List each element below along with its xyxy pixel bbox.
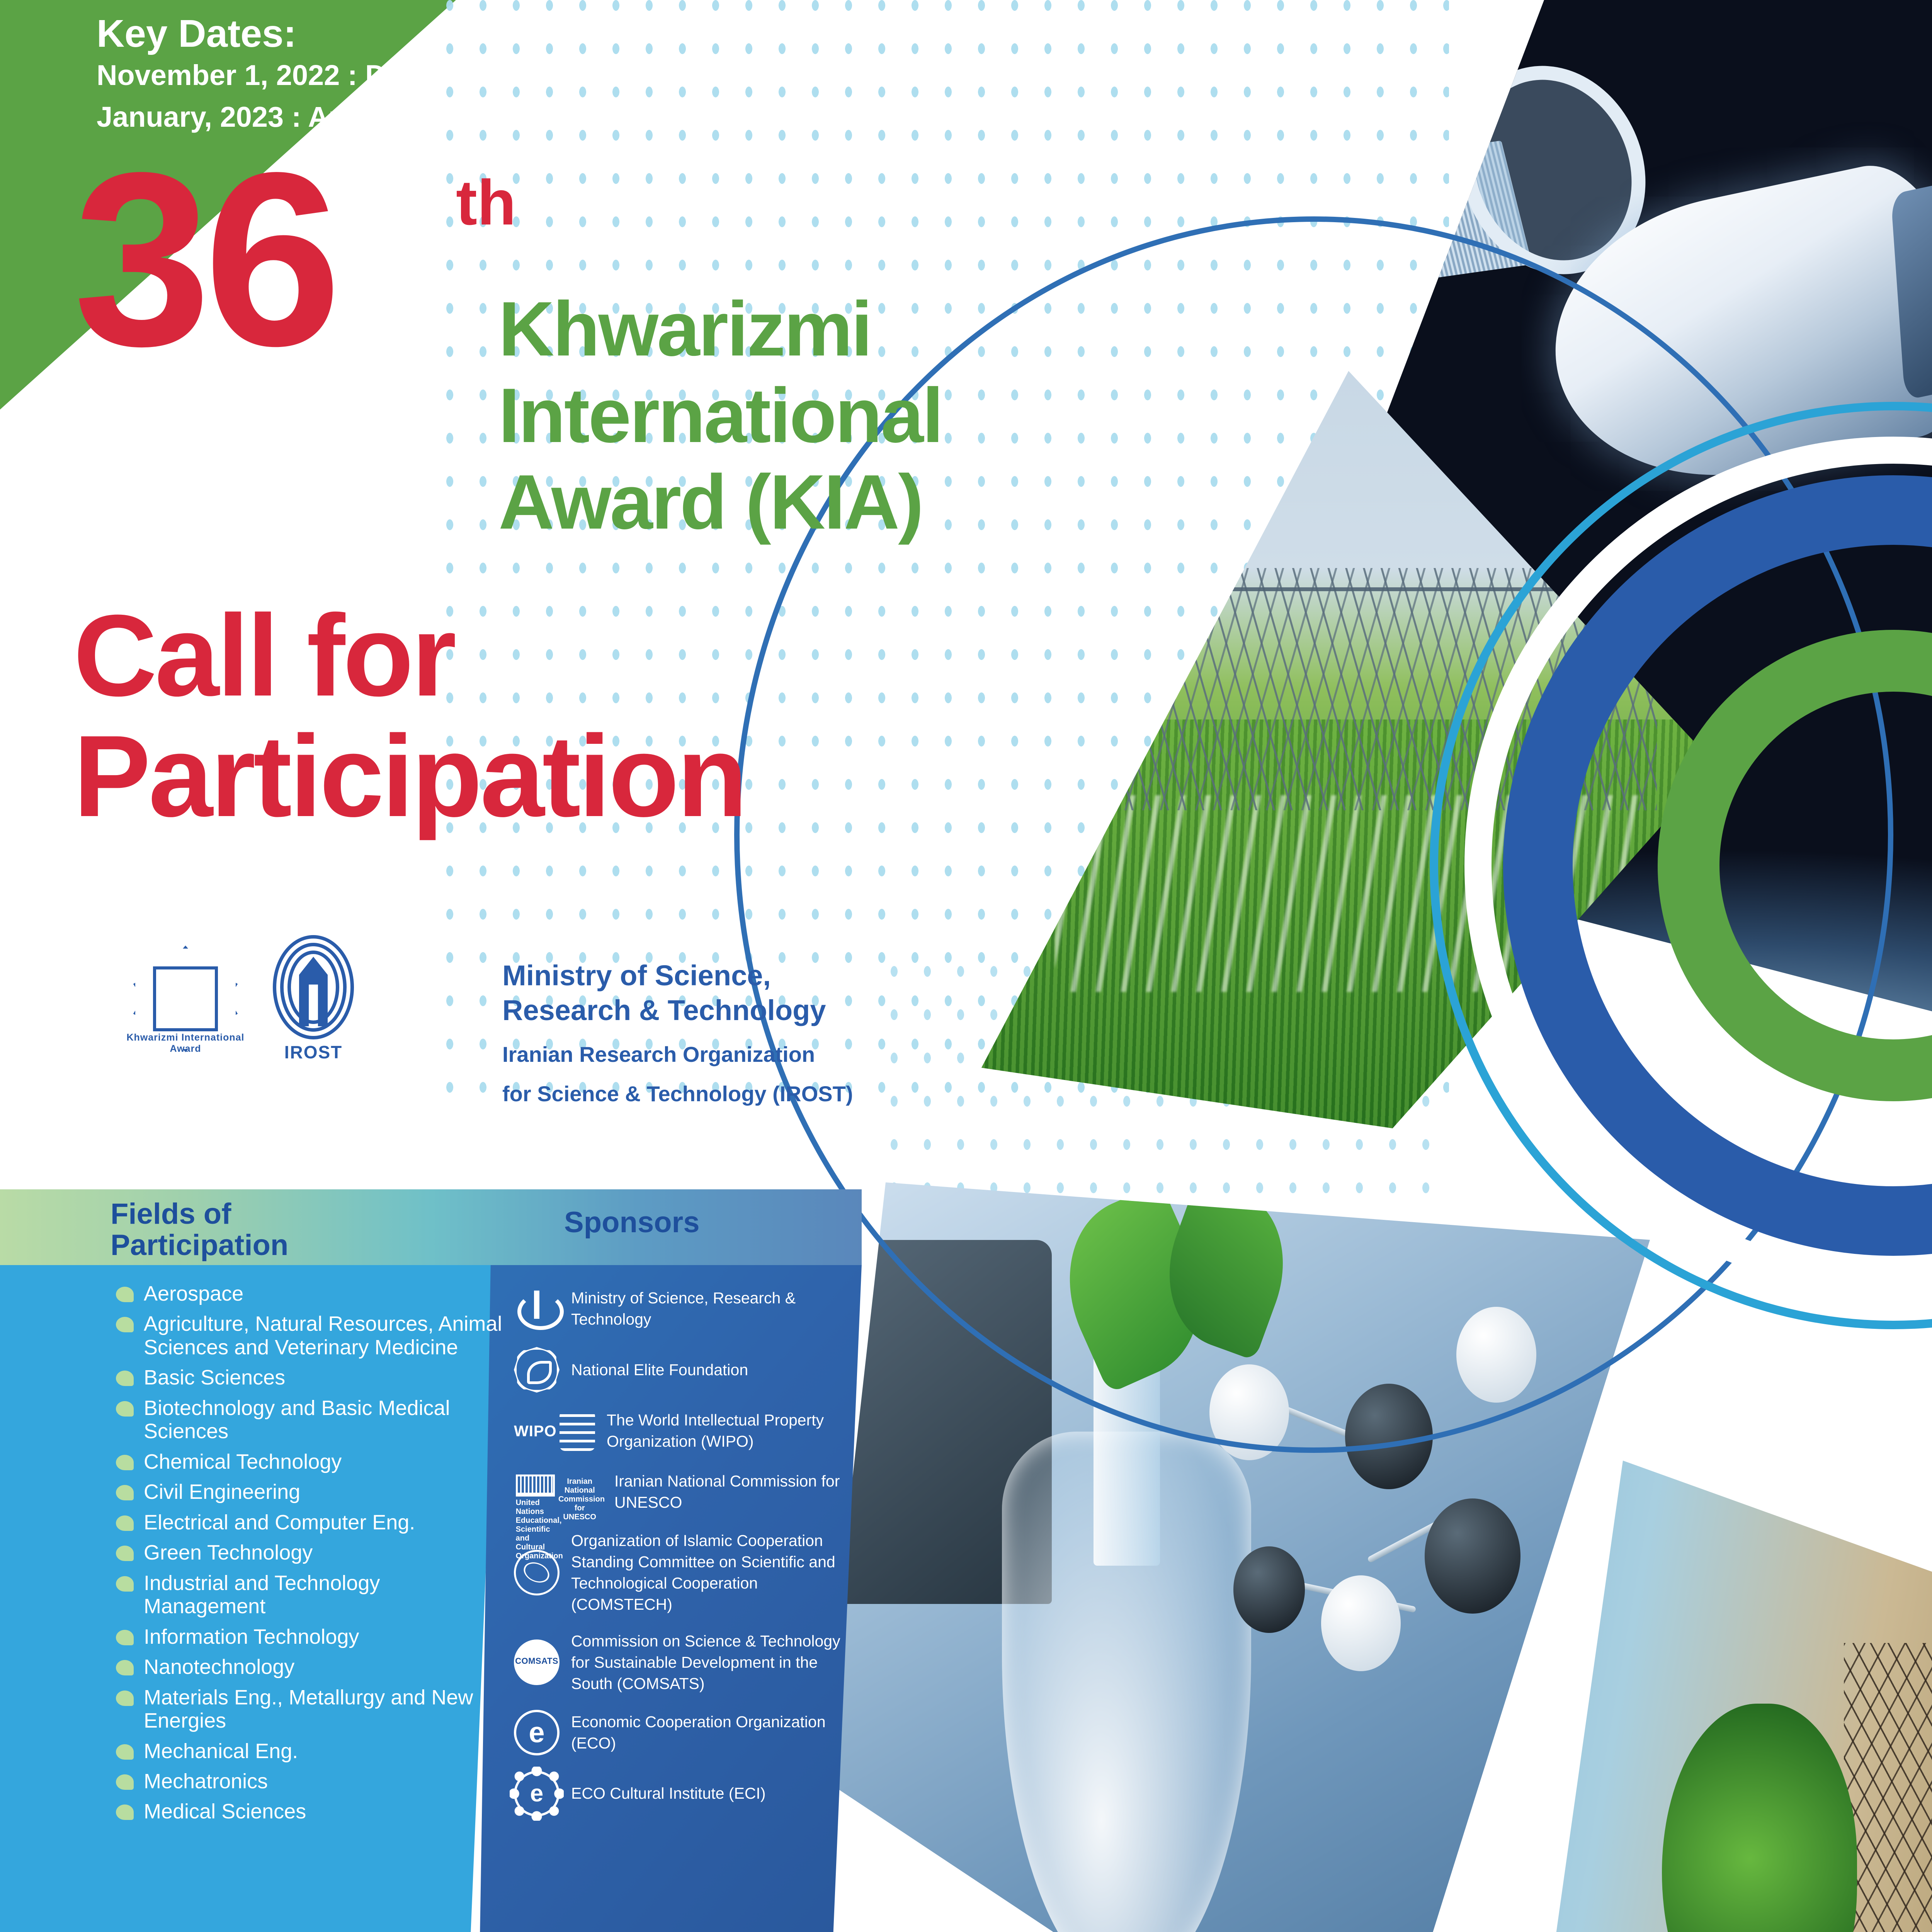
sponsors-title: Sponsors xyxy=(564,1206,700,1239)
org-line-2: for Science & Technology (IROST) xyxy=(502,1081,853,1107)
field-label: Agriculture, Natural Resources, Animal S… xyxy=(144,1312,502,1359)
list-item: ECO Cultural Institute (ECI) xyxy=(514,1771,854,1816)
unesco-caption-2: Iranian National Commission for UNESCO xyxy=(558,1477,601,1522)
iran-emblem-icon xyxy=(514,1286,560,1332)
list-item: Organization of Islamic Cooperation Stan… xyxy=(514,1530,854,1615)
bare-branches-shape xyxy=(1844,1643,1932,1932)
list-item: WIPO The World Intellectual Property Org… xyxy=(514,1408,854,1454)
list-item: Agriculture, Natural Resources, Animal S… xyxy=(116,1312,502,1359)
key-dates-line-1: November 1, 2022 : Deadline for submissi… xyxy=(97,59,697,92)
sponsor-name: Ministry of Science, Research & Technolo… xyxy=(571,1287,854,1330)
field-label: Information Technology xyxy=(144,1625,359,1648)
sponsor-name: Economic Cooperation Organization (ECO) xyxy=(571,1711,854,1754)
leaf-bullet-icon xyxy=(116,1546,134,1561)
list-item: Materials Eng., Metallurgy and New Energ… xyxy=(116,1686,502,1733)
ministry-line-2: Research & Technology xyxy=(502,993,853,1028)
field-label: Chemical Technology xyxy=(144,1450,342,1473)
comstech-logo-icon xyxy=(514,1550,560,1595)
sponsor-name: ECO Cultural Institute (ECI) xyxy=(571,1783,766,1804)
list-item: Biotechnology and Basic Medical Sciences xyxy=(116,1396,502,1443)
leaf-bullet-icon xyxy=(116,1576,134,1592)
list-item: Industrial and Technology Management xyxy=(116,1571,502,1618)
leaf-bullet-icon xyxy=(116,1744,134,1760)
leaf-bullet-icon xyxy=(116,1774,134,1790)
list-item: COMSATS Commission on Science & Technolo… xyxy=(514,1631,854,1694)
field-label: Aerospace xyxy=(144,1282,243,1305)
field-label: Basic Sciences xyxy=(144,1366,285,1389)
sponsor-name: The World Intellectual Property Organiza… xyxy=(607,1410,854,1452)
leaf-bullet-icon xyxy=(116,1515,134,1531)
list-item: Mechatronics xyxy=(116,1770,502,1793)
leaf-bullet-icon xyxy=(116,1690,134,1706)
molecule-atom xyxy=(1321,1575,1401,1671)
comsats-logo-icon: COMSATS xyxy=(514,1639,560,1685)
sponsor-name: Commission on Science & Technology for S… xyxy=(571,1631,854,1694)
sponsor-name: Organization of Islamic Cooperation Stan… xyxy=(571,1530,854,1615)
comsats-wordmark: COMSATS xyxy=(514,1656,560,1666)
key-dates-title: Key Dates: xyxy=(97,12,296,56)
org-line-1: Iranian Research Organization xyxy=(502,1041,853,1068)
list-item: Aerospace xyxy=(116,1282,502,1305)
field-label: Mechanical Eng. xyxy=(144,1740,298,1763)
kia-inner-square xyxy=(153,966,218,1031)
leaf-bullet-icon xyxy=(116,1485,134,1500)
fields-of-participation-title: Fields of Participation xyxy=(111,1199,288,1261)
unesco-logo-icon: United Nations Educational, Scientific a… xyxy=(514,1469,603,1515)
call-for-participation-heading: Call for Participation xyxy=(73,595,745,836)
fields-title-line2: Participation xyxy=(111,1230,288,1261)
eco-logo-icon xyxy=(514,1710,560,1755)
poster-canvas: 36 th Khwarizmi International Award (KIA… xyxy=(0,0,1932,1932)
kia-logo-caption: Khwarizmi International Award xyxy=(121,1032,250,1054)
sponsor-name: Iranian National Commission for UNESCO xyxy=(614,1471,854,1513)
molecule-atom xyxy=(1233,1546,1305,1633)
field-label: Materials Eng., Metallurgy and New Energ… xyxy=(144,1686,502,1733)
unesco-temple-shape xyxy=(516,1475,555,1497)
sponsors-list: Ministry of Science, Research & Technolo… xyxy=(514,1286,854,1832)
award-title-line2: International xyxy=(498,372,942,459)
field-label: Green Technology xyxy=(144,1541,313,1564)
award-title-line3: Award (KIA) xyxy=(498,459,942,546)
fields-title-line1: Fields of xyxy=(111,1199,288,1230)
wipo-wordmark: WIPO xyxy=(514,1423,557,1440)
list-item: Green Technology xyxy=(116,1541,502,1564)
leaf-bullet-icon xyxy=(116,1455,134,1470)
wipo-logo-icon: WIPO xyxy=(514,1408,595,1454)
list-item: Nanotechnology xyxy=(116,1655,502,1679)
organizer-logos: Khwarizmi International Award IROST xyxy=(128,935,362,1063)
field-label: Industrial and Technology Management xyxy=(144,1571,502,1618)
field-label: Nanotechnology xyxy=(144,1655,294,1679)
edition-number: 36 xyxy=(73,160,335,358)
fields-list: Aerospace Agriculture, Natural Resources… xyxy=(116,1282,502,1830)
list-item: Electrical and Computer Eng. xyxy=(116,1511,502,1534)
list-item: Civil Engineering xyxy=(116,1480,502,1503)
call-line-1: Call for xyxy=(73,595,745,716)
eci-logo-icon xyxy=(514,1771,560,1816)
wipo-lines-shape xyxy=(560,1411,595,1451)
list-item: Medical Sciences xyxy=(116,1800,502,1823)
irost-logo-caption: IROST xyxy=(265,1042,362,1063)
list-item: Economic Cooperation Organization (ECO) xyxy=(514,1710,854,1755)
call-line-2: Participation xyxy=(73,716,745,836)
list-item: United Nations Educational, Scientific a… xyxy=(514,1469,854,1515)
key-dates-line-2: January, 2023 : Announcement of the KIA … xyxy=(97,100,801,133)
leaf-bullet-icon xyxy=(116,1287,134,1302)
field-label: Civil Engineering xyxy=(144,1480,300,1503)
list-item: Ministry of Science, Research & Technolo… xyxy=(514,1286,854,1332)
list-item: National Elite Foundation xyxy=(514,1347,854,1393)
elite-foundation-icon xyxy=(514,1347,560,1393)
irost-logo-icon: IROST xyxy=(265,935,362,1063)
field-label: Medical Sciences xyxy=(144,1800,306,1823)
field-label: Electrical and Computer Eng. xyxy=(144,1511,415,1534)
list-item: Information Technology xyxy=(116,1625,502,1648)
award-title-line1: Khwarizmi xyxy=(498,286,942,372)
fields-and-sponsors-panel: Fields of Participation Sponsors Aerospa… xyxy=(0,1189,862,1932)
leaf-bullet-icon xyxy=(116,1630,134,1645)
tree-canopy-shape xyxy=(1662,1704,1857,1932)
award-title: Khwarizmi International Award (KIA) xyxy=(498,286,942,546)
ministry-line-1: Ministry of Science, xyxy=(502,958,853,993)
organizer-text-block: Ministry of Science, Research & Technolo… xyxy=(502,958,853,1107)
sponsor-name: National Elite Foundation xyxy=(571,1359,748,1381)
list-item: Chemical Technology xyxy=(116,1450,502,1473)
leaf-bullet-icon xyxy=(116,1371,134,1386)
leaf-bullet-icon xyxy=(116,1804,134,1820)
leaf-bullet-icon xyxy=(116,1660,134,1675)
leaf-bullet-icon xyxy=(116,1401,134,1417)
molecule-atom xyxy=(1425,1498,1520,1614)
field-label: Biotechnology and Basic Medical Sciences xyxy=(144,1396,502,1443)
list-item: Basic Sciences xyxy=(116,1366,502,1389)
kia-seal-logo-icon: Khwarizmi International Award xyxy=(128,941,243,1057)
list-item: Mechanical Eng. xyxy=(116,1740,502,1763)
leaf-bullet-icon xyxy=(116,1317,134,1332)
field-label: Mechatronics xyxy=(144,1770,268,1793)
edition-ordinal-suffix: th xyxy=(456,166,516,239)
